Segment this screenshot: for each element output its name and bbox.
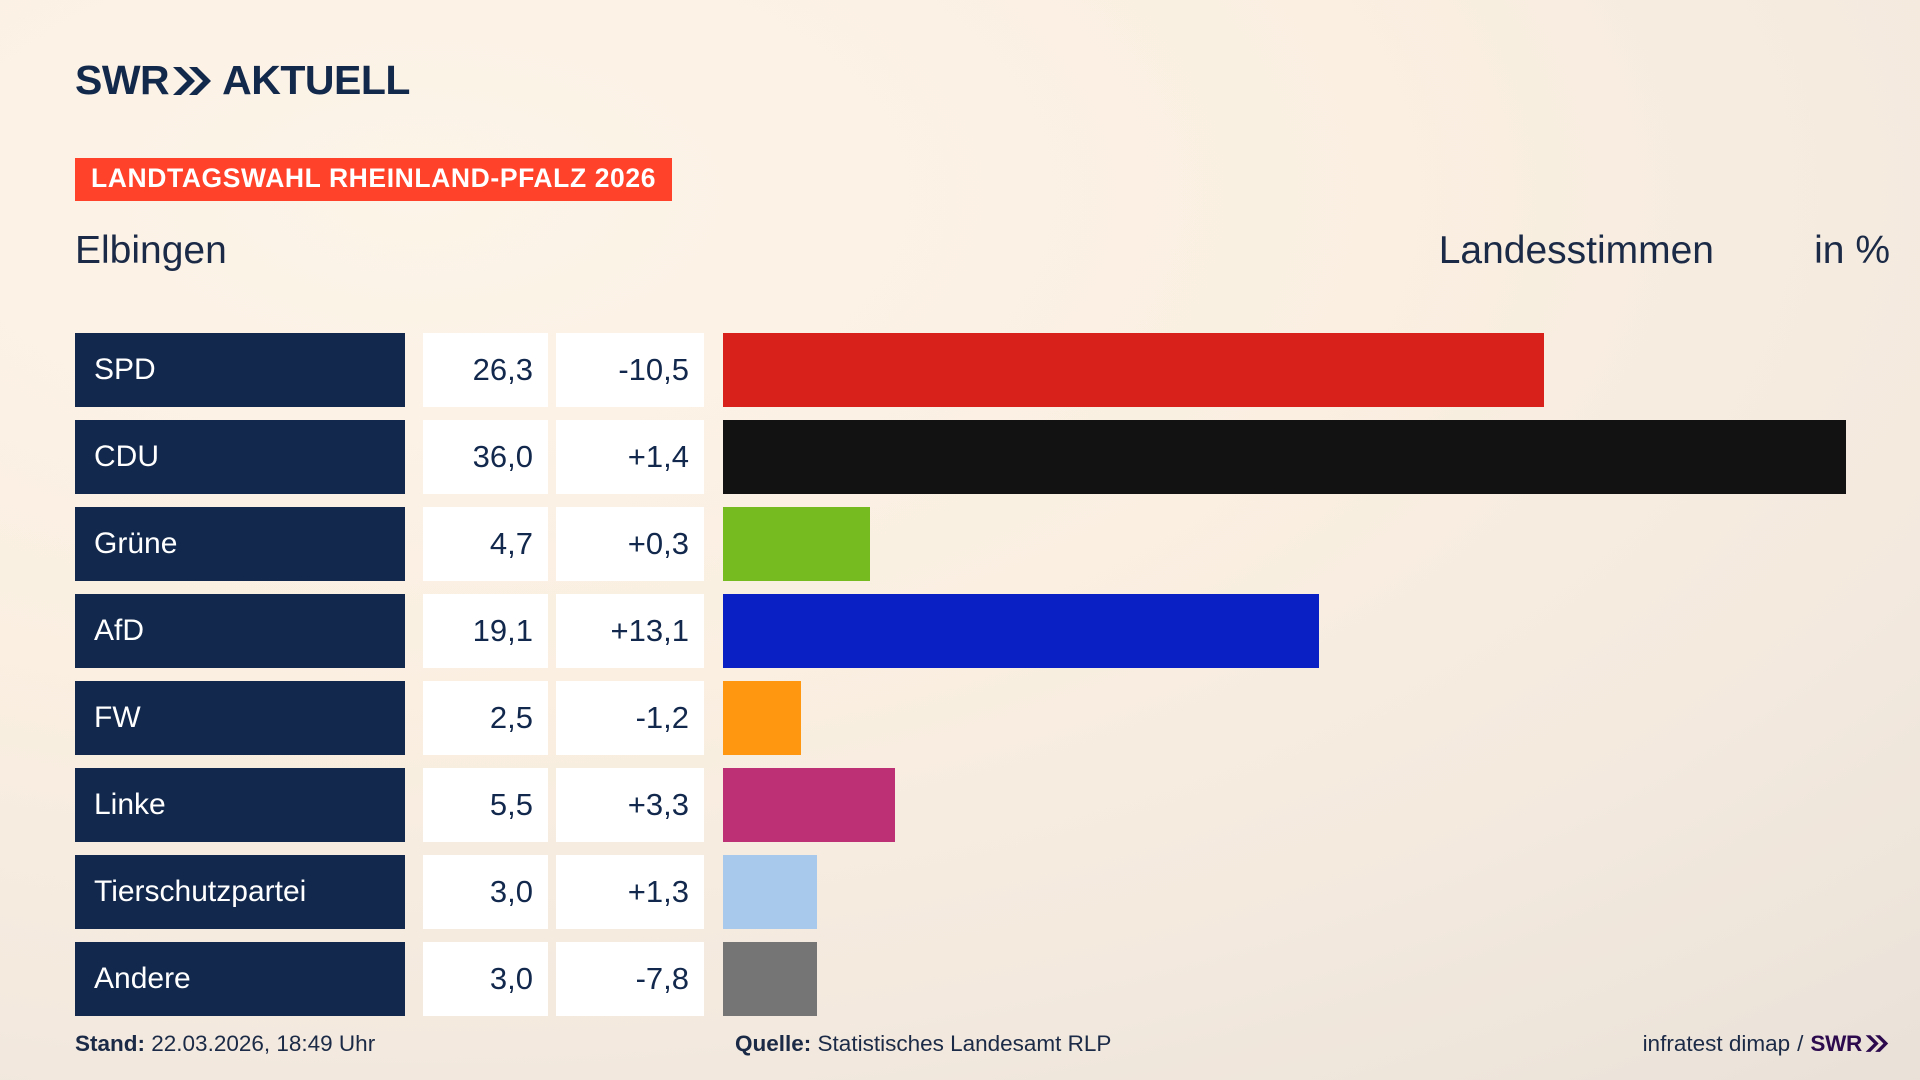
party-share-cell: 26,3 bbox=[423, 333, 548, 407]
party-change-cell: +13,1 bbox=[556, 594, 704, 668]
quelle-value: Statistisches Landesamt RLP bbox=[818, 1031, 1112, 1056]
party-change-cell: -7,8 bbox=[556, 942, 704, 1016]
party-bar bbox=[723, 855, 817, 929]
election-results-graphic: SWR AKTUELL LANDTAGSWAHL RHEINLAND-PFALZ… bbox=[0, 0, 1920, 1080]
result-row: SPD26,3-10,5 bbox=[0, 333, 1920, 407]
party-name-cell: Andere bbox=[75, 942, 405, 1016]
party-name-cell: Tierschutzpartei bbox=[75, 855, 405, 929]
party-bar bbox=[723, 333, 1544, 407]
result-row: AfD19,1+13,1 bbox=[0, 594, 1920, 668]
double-chevron-right-icon bbox=[1865, 1034, 1890, 1053]
stand-info: Stand: 22.03.2026, 18:49 Uhr bbox=[75, 1031, 375, 1057]
credit-line: infratest dimap / SWR bbox=[1643, 1031, 1890, 1057]
party-share-cell: 5,5 bbox=[423, 768, 548, 842]
party-name-cell: Grüne bbox=[75, 507, 405, 581]
party-share-cell: 2,5 bbox=[423, 681, 548, 755]
party-share-cell: 19,1 bbox=[423, 594, 548, 668]
stand-label: Stand: bbox=[75, 1031, 145, 1056]
party-change-cell: +1,4 bbox=[556, 420, 704, 494]
party-change-cell: -1,2 bbox=[556, 681, 704, 755]
party-share-cell: 3,0 bbox=[423, 855, 548, 929]
logo-swr-text: SWR bbox=[75, 60, 169, 101]
bar-track bbox=[723, 333, 1920, 407]
quelle-label: Quelle: bbox=[735, 1031, 811, 1056]
unit-label: in % bbox=[1814, 222, 1890, 280]
party-bar bbox=[723, 420, 1846, 494]
bar-track bbox=[723, 768, 1920, 842]
credit-separator: / bbox=[1797, 1031, 1803, 1057]
party-bar bbox=[723, 942, 817, 1016]
party-bar bbox=[723, 594, 1319, 668]
party-share-cell: 3,0 bbox=[423, 942, 548, 1016]
result-row: FW2,5-1,2 bbox=[0, 681, 1920, 755]
result-row: Linke5,5+3,3 bbox=[0, 768, 1920, 842]
party-bar bbox=[723, 681, 801, 755]
bar-track bbox=[723, 420, 1920, 494]
logo-aktuell-text: AKTUELL bbox=[222, 60, 410, 101]
bar-track bbox=[723, 942, 1920, 1016]
region-name: Elbingen bbox=[75, 222, 227, 280]
subtitle-row: Elbingen Landesstimmen in % bbox=[0, 222, 1920, 280]
footer: Stand: 22.03.2026, 18:49 Uhr Quelle: Sta… bbox=[0, 1031, 1920, 1071]
stand-value: 22.03.2026, 18:49 Uhr bbox=[151, 1031, 375, 1056]
result-row: Tierschutzpartei3,0+1,3 bbox=[0, 855, 1920, 929]
party-change-cell: -10,5 bbox=[556, 333, 704, 407]
party-name-cell: FW bbox=[75, 681, 405, 755]
credit-agency: infratest dimap bbox=[1643, 1031, 1791, 1057]
credit-swr-text: SWR bbox=[1810, 1031, 1862, 1057]
source-info: Quelle: Statistisches Landesamt RLP bbox=[735, 1031, 1111, 1057]
party-bar bbox=[723, 768, 895, 842]
bar-track bbox=[723, 507, 1920, 581]
party-name-cell: Linke bbox=[75, 768, 405, 842]
result-row: Grüne4,7+0,3 bbox=[0, 507, 1920, 581]
party-change-cell: +0,3 bbox=[556, 507, 704, 581]
party-share-cell: 4,7 bbox=[423, 507, 548, 581]
bar-track bbox=[723, 681, 1920, 755]
bar-track bbox=[723, 855, 1920, 929]
swr-aktuell-logo: SWR AKTUELL bbox=[75, 57, 410, 103]
party-name-cell: SPD bbox=[75, 333, 405, 407]
double-chevron-right-icon bbox=[173, 65, 213, 97]
election-kicker-banner: LANDTAGSWAHL RHEINLAND-PFALZ 2026 bbox=[75, 158, 672, 201]
result-row: Andere3,0-7,8 bbox=[0, 942, 1920, 1016]
results-table: SPD26,3-10,5CDU36,0+1,4Grüne4,7+0,3AfD19… bbox=[0, 333, 1920, 1029]
result-row: CDU36,0+1,4 bbox=[0, 420, 1920, 494]
party-share-cell: 36,0 bbox=[423, 420, 548, 494]
party-bar bbox=[723, 507, 870, 581]
party-name-cell: AfD bbox=[75, 594, 405, 668]
votes-type-label: Landesstimmen bbox=[1439, 222, 1714, 280]
party-name-cell: CDU bbox=[75, 420, 405, 494]
party-change-cell: +1,3 bbox=[556, 855, 704, 929]
bar-track bbox=[723, 594, 1920, 668]
party-change-cell: +3,3 bbox=[556, 768, 704, 842]
